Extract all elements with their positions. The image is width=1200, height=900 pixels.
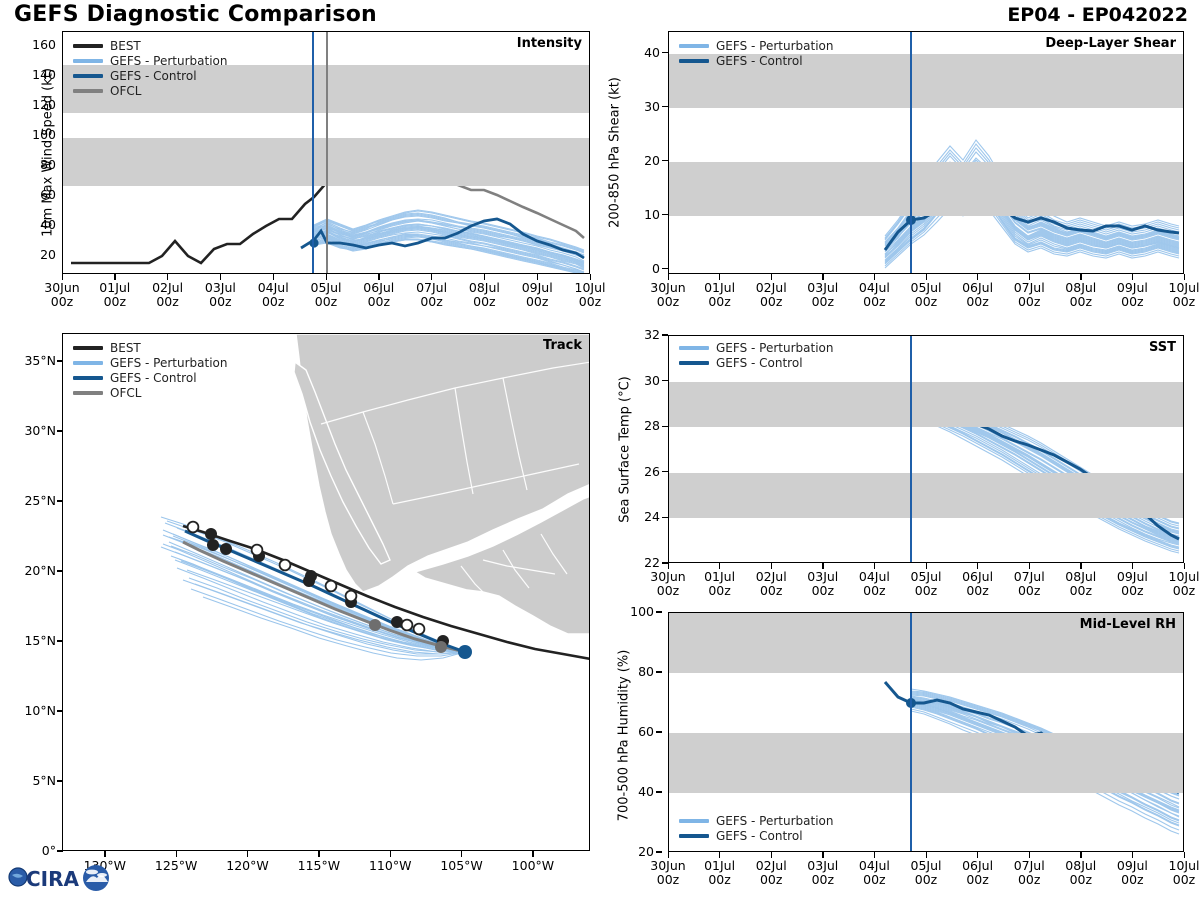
init-time-vline (312, 32, 314, 273)
legend-label-control: GEFS - Control (716, 356, 803, 370)
tick-hour: 00z (296, 295, 356, 309)
shear-y-tick-40: 40 (624, 45, 660, 60)
track-lon-tickmark (318, 851, 319, 857)
track-lon-tickmark (532, 851, 533, 857)
intensity-x-tick-label: 30Jun00z (32, 281, 92, 309)
legend-swatch-best (73, 44, 103, 48)
shear-y-tick-20: 20 (624, 153, 660, 168)
tick-hour: 00z (1154, 584, 1200, 598)
intensity-ytick-100: 100 (24, 127, 56, 142)
tick-hour: 00z (85, 295, 145, 309)
sst-band-28-30 (669, 382, 1183, 428)
legend-row-ofcl: OFCL (73, 385, 227, 400)
track-legend: BEST GEFS - Perturbation GEFS - Control … (73, 340, 227, 400)
rh-y-tickmark (656, 791, 662, 792)
legend-swatch-perturbation (679, 44, 709, 48)
legend-swatch-control (679, 834, 709, 838)
shear-y-tick-30: 30 (624, 99, 660, 114)
track-plot-area (63, 334, 589, 850)
track-map-svg (63, 334, 589, 850)
intensity-legend: BEST GEFS - Perturbation GEFS - Control … (73, 38, 227, 98)
legend-row-control: GEFS - Control (679, 355, 833, 370)
track-lat-tickmark (57, 430, 63, 431)
legend-label-perturbation: GEFS - Perturbation (716, 341, 833, 355)
shear-y-tickmark (662, 268, 668, 269)
sst-y-tickmark (662, 426, 668, 427)
rh-y-tickmark (656, 671, 662, 672)
intensity-ytick-60: 60 (24, 187, 56, 202)
shear-y-tickmark (662, 106, 668, 107)
tick-date: 10Jul (560, 281, 620, 295)
rh-y-tickmark (656, 851, 662, 852)
tick-hour: 00z (402, 295, 462, 309)
legend-label-perturbation: GEFS - Perturbation (716, 814, 833, 828)
shear-y-tick-10: 10 (624, 207, 660, 222)
legend-label-control: GEFS - Control (110, 69, 197, 83)
intensity-x-tick-label: 06Jul00z (349, 281, 409, 309)
track-lat-tick: 10°N (8, 703, 56, 718)
rh-y-tickmark (656, 731, 662, 732)
rh-y-tick-40: 40 (618, 784, 654, 799)
intensity-ytick-140: 140 (24, 67, 56, 82)
track-lat-tick: 30°N (8, 423, 56, 438)
track-lat-tick: 35°N (8, 353, 56, 368)
legend-label-control: GEFS - Control (110, 371, 197, 385)
sst-panel-title: SST (1149, 340, 1176, 355)
track-lat-tick: 20°N (8, 563, 56, 578)
sst-panel[interactable]: SST GEFS - Perturbation GEFS - Control (668, 335, 1184, 563)
sst-y-tick-26: 26 (624, 464, 660, 479)
sst-y-tick-22: 22 (624, 555, 660, 570)
page-title: GEFS Diagnostic Comparison (14, 2, 377, 27)
track-lat-tick: 5°N (8, 773, 56, 788)
tick-date: 05Jul (296, 281, 356, 295)
track-lon-tickmark (247, 851, 248, 857)
track-marker-ofcl (369, 619, 381, 631)
legend-row-perturbation: GEFS - Perturbation (73, 355, 227, 370)
track-lon-tickmark (104, 851, 105, 857)
legend-row-perturbation: GEFS - Perturbation (679, 340, 833, 355)
cira-logo: CIRA (4, 858, 124, 898)
tick-date: 06Jul (349, 281, 409, 295)
legend-swatch-ofcl (73, 89, 103, 93)
init-time-vline (910, 32, 912, 273)
intensity-ytick-40: 40 (24, 217, 56, 232)
legend-label-ofcl: OFCL (110, 386, 141, 400)
sst-y-tick-28: 28 (624, 418, 660, 433)
land-polygons (294, 334, 589, 634)
rh-y-tick-60: 60 (618, 724, 654, 739)
track-lon-tick: 110°W (358, 859, 422, 873)
track-marker-open (346, 591, 357, 602)
track-marker-open (402, 620, 413, 631)
legend-swatch-best (73, 346, 103, 350)
storm-id-title: EP04 - EP042022 (1007, 4, 1188, 26)
rh-panel-title: Mid-Level RH (1080, 617, 1176, 632)
tick-date: 10Jul (1154, 281, 1200, 295)
track-control-init-marker (458, 645, 472, 659)
track-panel-title: Track (543, 338, 582, 353)
intensity-x-tick-label: 01Jul00z (85, 281, 145, 309)
tick-date: 07Jul (402, 281, 462, 295)
current-time-vline (326, 32, 328, 273)
intensity-x-tick-label: 03Jul00z (190, 281, 250, 309)
legend-label-best: BEST (110, 39, 141, 53)
tick-date: 08Jul (454, 281, 514, 295)
intensity-x-tick-label: 09Jul00z (507, 281, 567, 309)
sst-legend: GEFS - Perturbation GEFS - Control (679, 340, 833, 370)
legend-row-best: BEST (73, 340, 227, 355)
legend-label-ofcl: OFCL (110, 84, 141, 98)
shear-panel[interactable]: Deep-Layer Shear GEFS - Perturbation GEF… (668, 31, 1184, 274)
rh-panel[interactable]: Mid-Level RH GEFS - Perturbation GEFS - … (668, 612, 1184, 852)
track-lat-tickmark (57, 850, 63, 851)
intensity-perturbation-lines (314, 210, 584, 273)
tick-date: 04Jul (243, 281, 303, 295)
gefs-diagnostic-page: GEFS Diagnostic Comparison EP04 - EP0420… (0, 0, 1200, 900)
intensity-x-tick-label: 02Jul00z (138, 281, 198, 309)
sst-band-24-26 (669, 473, 1183, 519)
shear-y-axis-label: 200-850 hPa Shear (kt) (608, 43, 623, 263)
legend-swatch-control (73, 376, 103, 380)
rh-x-tick-label: 10Jul00z (1154, 859, 1200, 887)
tick-hour: 00z (138, 295, 198, 309)
legend-label-control: GEFS - Control (716, 54, 803, 68)
intensity-ytick-120: 120 (24, 97, 56, 112)
legend-row-perturbation: GEFS - Perturbation (73, 53, 227, 68)
track-marker-filled (220, 543, 232, 555)
legend-swatch-perturbation (73, 59, 103, 63)
track-lat-tickmark (57, 780, 63, 781)
tick-date: 09Jul (507, 281, 567, 295)
legend-label-perturbation: GEFS - Perturbation (110, 356, 227, 370)
sst-y-tickmark (662, 380, 668, 381)
shear-y-tick-0: 0 (624, 261, 660, 276)
init-time-vline (910, 336, 912, 562)
track-lon-tick: 120°W (216, 859, 280, 873)
intensity-x-tick-label: 10Jul00z (560, 281, 620, 309)
intensity-ytick-160: 160 (24, 37, 56, 52)
rh-band-40-60 (669, 733, 1183, 793)
track-lat-tickmark (57, 640, 63, 641)
track-marker-open (280, 560, 291, 571)
track-lat-tickmark (57, 500, 63, 501)
tick-date: 30Jun (32, 281, 92, 295)
track-lon-tickmark (390, 851, 391, 857)
legend-row-control: GEFS - Control (679, 53, 833, 68)
rh-y-tickmark (656, 611, 662, 612)
sst-y-tick-24: 24 (624, 509, 660, 524)
shear-plot-area (669, 32, 1183, 273)
track-marker-filled (205, 528, 217, 540)
track-marker-filled (207, 539, 219, 551)
shear-y-tickmark (662, 214, 668, 215)
shear-y-tickmark (662, 52, 668, 53)
track-marker-open (326, 581, 337, 592)
rh-y-tick-80: 80 (618, 664, 654, 679)
sst-y-tick-30: 30 (624, 373, 660, 388)
legend-swatch-control (679, 361, 709, 365)
legend-swatch-perturbation (679, 346, 709, 350)
legend-row-perturbation: GEFS - Perturbation (679, 38, 833, 53)
track-lon-tick: 115°W (287, 859, 351, 873)
sst-y-tickmark (662, 517, 668, 518)
track-lat-tick: 0° (8, 843, 56, 858)
legend-label-perturbation: GEFS - Perturbation (110, 54, 227, 68)
legend-row-control: GEFS - Control (73, 68, 227, 83)
intensity-x-tick-label: 08Jul00z (454, 281, 514, 309)
track-lat-tickmark (57, 360, 63, 361)
shear-legend: GEFS - Perturbation GEFS - Control (679, 38, 833, 68)
track-lon-tickmark (461, 851, 462, 857)
rh-y-tick-100: 100 (618, 604, 654, 619)
sst-y-tickmark (662, 471, 668, 472)
tick-date: 03Jul (190, 281, 250, 295)
intensity-x-tick-label: 04Jul00z (243, 281, 303, 309)
track-lat-tickmark (57, 710, 63, 711)
shear-x-tick-label: 10Jul00z (1154, 281, 1200, 309)
tick-date: 10Jul (1154, 859, 1200, 873)
legend-swatch-perturbation (679, 819, 709, 823)
intensity-best-line (71, 182, 327, 263)
sst-y-tick-32: 32 (624, 327, 660, 342)
track-marker-ofcl (435, 641, 447, 653)
legend-row-control: GEFS - Control (73, 370, 227, 385)
track-lat-tickmark (57, 570, 63, 571)
tick-date: 02Jul (138, 281, 198, 295)
cira-logo-text: CIRA (26, 867, 80, 891)
legend-label-control: GEFS - Control (716, 829, 803, 843)
legend-label-best: BEST (110, 341, 141, 355)
track-marker-open (252, 545, 263, 556)
track-lat-tick: 15°N (8, 633, 56, 648)
legend-swatch-control (73, 74, 103, 78)
rh-y-tick-20: 20 (618, 844, 654, 859)
track-marker-open (414, 624, 425, 635)
track-lon-tick: 100°W (501, 859, 565, 873)
shear-panel-title: Deep-Layer Shear (1045, 36, 1176, 51)
track-panel[interactable]: Track BEST GEFS - Perturbation GEFS - Co… (62, 333, 590, 851)
shear-y-tickmark (662, 160, 668, 161)
tick-hour: 00z (349, 295, 409, 309)
track-marker-open (188, 522, 199, 533)
track-lat-tick: 25°N (8, 493, 56, 508)
sst-y-tickmark (662, 334, 668, 335)
tick-hour: 00z (190, 295, 250, 309)
rh-legend: GEFS - Perturbation GEFS - Control (679, 813, 833, 843)
track-lon-tickmark (176, 851, 177, 857)
tick-date: 01Jul (85, 281, 145, 295)
legend-row-perturbation: GEFS - Perturbation (679, 813, 833, 828)
legend-row-best: BEST (73, 38, 227, 53)
track-marker-filled (305, 570, 317, 582)
legend-row-ofcl: OFCL (73, 83, 227, 98)
legend-row-control: GEFS - Control (679, 828, 833, 843)
intensity-ytick-80: 80 (24, 157, 56, 172)
intensity-panel-title: Intensity (517, 36, 582, 51)
intensity-panel[interactable]: Intensity BEST GEFS - Perturbation GEFS … (62, 31, 590, 274)
tick-hour: 00z (454, 295, 514, 309)
track-lon-tick: 105°W (430, 859, 494, 873)
tick-hour: 00z (560, 295, 620, 309)
track-lon-tick: 125°W (144, 859, 208, 873)
init-time-vline (910, 613, 912, 851)
tick-hour: 00z (243, 295, 303, 309)
tick-hour: 00z (32, 295, 92, 309)
tick-hour: 00z (507, 295, 567, 309)
legend-swatch-control (679, 59, 709, 63)
tick-hour: 00z (1154, 295, 1200, 309)
legend-swatch-ofcl (73, 391, 103, 395)
intensity-x-tick-label: 07Jul00z (402, 281, 462, 309)
legend-label-perturbation: GEFS - Perturbation (716, 39, 833, 53)
intensity-x-tick-label: 05Jul00z (296, 281, 356, 309)
legend-swatch-perturbation (73, 361, 103, 365)
sst-x-tick-label: 10Jul00z (1154, 570, 1200, 598)
intensity-ytick-20: 20 (24, 247, 56, 262)
tick-date: 10Jul (1154, 570, 1200, 584)
shear-band-10-20 (669, 162, 1183, 216)
tick-hour: 00z (1154, 873, 1200, 887)
